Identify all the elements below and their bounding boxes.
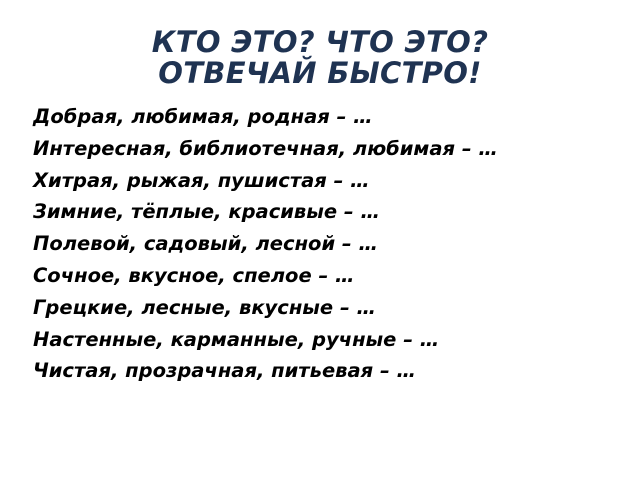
riddle-list: Добрая, любимая, родная – … Интересная, … xyxy=(33,101,633,387)
riddle-line: Зимние, тёплые, красивые – … xyxy=(33,196,633,228)
title-line-1: КТО ЭТО? ЧТО ЭТО? xyxy=(0,27,640,58)
slide-canvas: КТО ЭТО? ЧТО ЭТО? ОТВЕЧАЙ БЫСТРО! Добрая… xyxy=(0,0,640,480)
riddle-line: Настенные, карманные, ручные – … xyxy=(33,324,633,356)
title-line-2: ОТВЕЧАЙ БЫСТРО! xyxy=(0,58,640,89)
slide-title: КТО ЭТО? ЧТО ЭТО? ОТВЕЧАЙ БЫСТРО! xyxy=(0,27,640,89)
riddle-line: Грецкие, лесные, вкусные – … xyxy=(33,292,633,324)
riddle-line: Чистая, прозрачная, питьевая – … xyxy=(33,355,633,387)
riddle-line: Хитрая, рыжая, пушистая – … xyxy=(33,165,633,197)
riddle-line: Интересная, библиотечная, любимая – … xyxy=(33,133,633,165)
riddle-line: Добрая, любимая, родная – … xyxy=(33,101,633,133)
riddle-line: Сочное, вкусное, спелое – … xyxy=(33,260,633,292)
riddle-line: Полевой, садовый, лесной – … xyxy=(33,228,633,260)
